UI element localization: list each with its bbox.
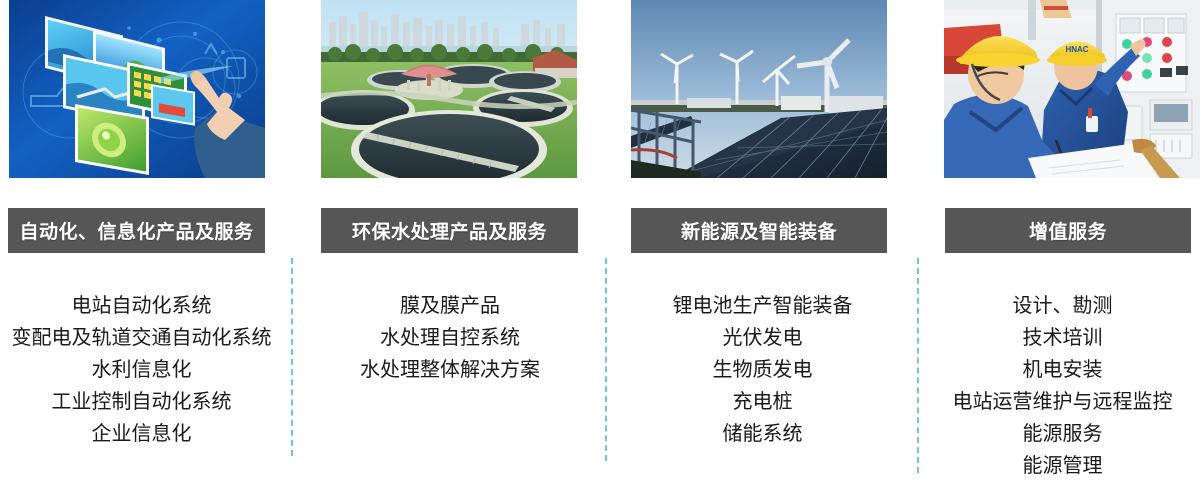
list-item[interactable]: 水处理自控系统 [300, 322, 600, 354]
list-item[interactable]: 光伏发电 [615, 322, 910, 354]
list-item[interactable]: 企业信息化 [0, 418, 283, 450]
service-list-3: 锂电池生产智能装备 光伏发电 生物质发电 充电桩 储能系统 [615, 290, 910, 450]
column-divider-3 [917, 258, 919, 473]
category-header-bar-3[interactable]: 新能源及智能装备 [631, 208, 887, 253]
list-item[interactable]: 膜及膜产品 [300, 290, 600, 322]
category-header-bar-4[interactable]: 增值服务 [945, 208, 1191, 253]
photo-digital-screens [9, 0, 265, 178]
list-item[interactable]: 锂电池生产智能装备 [615, 290, 910, 322]
hardhat-logo-text: HNAC [1065, 45, 1088, 54]
list-item[interactable]: 能源管理 [925, 450, 1200, 482]
category-title-2: 环保水处理产品及服务 [352, 217, 547, 244]
category-title-1: 自动化、信息化产品及服务 [19, 217, 253, 244]
service-list-4: 设计、勘测 技术培训 机电安装 电站运营维护与远程监控 能源服务 能源管理 [925, 290, 1200, 482]
photo-engineers-control-panel: HNAC [944, 0, 1200, 178]
list-item[interactable]: 技术培训 [925, 322, 1200, 354]
service-list-2: 膜及膜产品 水处理自控系统 水处理整体解决方案 [300, 290, 600, 386]
list-item[interactable]: 机电安装 [925, 354, 1200, 386]
category-title-3: 新能源及智能装备 [681, 217, 837, 244]
list-item[interactable]: 生物质发电 [615, 354, 910, 386]
category-column-3 [631, 0, 887, 178]
category-column-1 [9, 0, 265, 178]
category-header-bar-2[interactable]: 环保水处理产品及服务 [321, 208, 578, 253]
category-column-2 [321, 0, 577, 178]
category-title-4: 增值服务 [1029, 217, 1107, 244]
list-item[interactable]: 工业控制自动化系统 [0, 386, 283, 418]
photo-water-treatment-plant [321, 0, 577, 178]
photo-solar-wind-farm [631, 0, 887, 178]
list-item[interactable]: 电站运营维护与远程监控 [925, 386, 1200, 418]
column-divider-1 [291, 258, 293, 456]
category-header-bar-1[interactable]: 自动化、信息化产品及服务 [8, 208, 265, 253]
list-item[interactable]: 水处理整体解决方案 [300, 354, 600, 386]
list-item[interactable]: 电站自动化系统 [0, 290, 283, 322]
list-item[interactable]: 储能系统 [615, 418, 910, 450]
column-divider-2 [605, 258, 607, 461]
list-item[interactable]: 变配电及轨道交通自动化系统 [0, 322, 283, 354]
list-item[interactable]: 能源服务 [925, 418, 1200, 450]
list-item[interactable]: 设计、勘测 [925, 290, 1200, 322]
product-service-overview: HNAC [0, 0, 1200, 493]
category-column-4: HNAC [944, 0, 1200, 178]
list-item[interactable]: 充电桩 [615, 386, 910, 418]
service-list-1: 电站自动化系统 变配电及轨道交通自动化系统 水利信息化 工业控制自动化系统 企业… [0, 290, 283, 450]
list-item[interactable]: 水利信息化 [0, 354, 283, 386]
